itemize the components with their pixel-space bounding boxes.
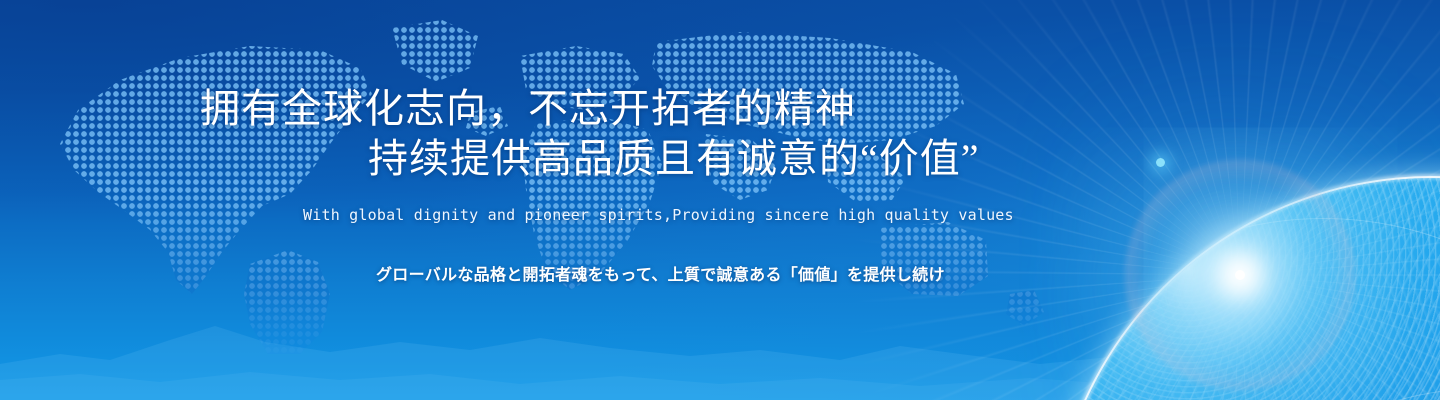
sun-flare-icon xyxy=(1235,270,1245,280)
subheadline-english: With global dignity and pioneer spirits,… xyxy=(303,206,1014,224)
hero-banner: 拥有全球化志向，不忘开拓者的精神 持续提供高品质且有诚意的“价值” With g… xyxy=(0,0,1440,400)
lens-flare-dot-icon xyxy=(1156,158,1165,167)
subheadline-japanese: グローバルな品格と開拓者魂をもって、上質で誠意ある「価値」を提供し続け xyxy=(376,261,945,285)
headline-line-1: 拥有全球化志向，不忘开拓者的精神 xyxy=(200,86,856,131)
banner-copy: 拥有全球化志向，不忘开拓者的精神 持续提供高品质且有诚意的“价值” With g… xyxy=(0,0,1100,400)
headline: 拥有全球化志向，不忘开拓者的精神 持续提供高品质且有诚意的“价值” xyxy=(200,84,980,184)
headline-line-2: 持续提供高品质且有诚意的“价值” xyxy=(200,134,980,184)
